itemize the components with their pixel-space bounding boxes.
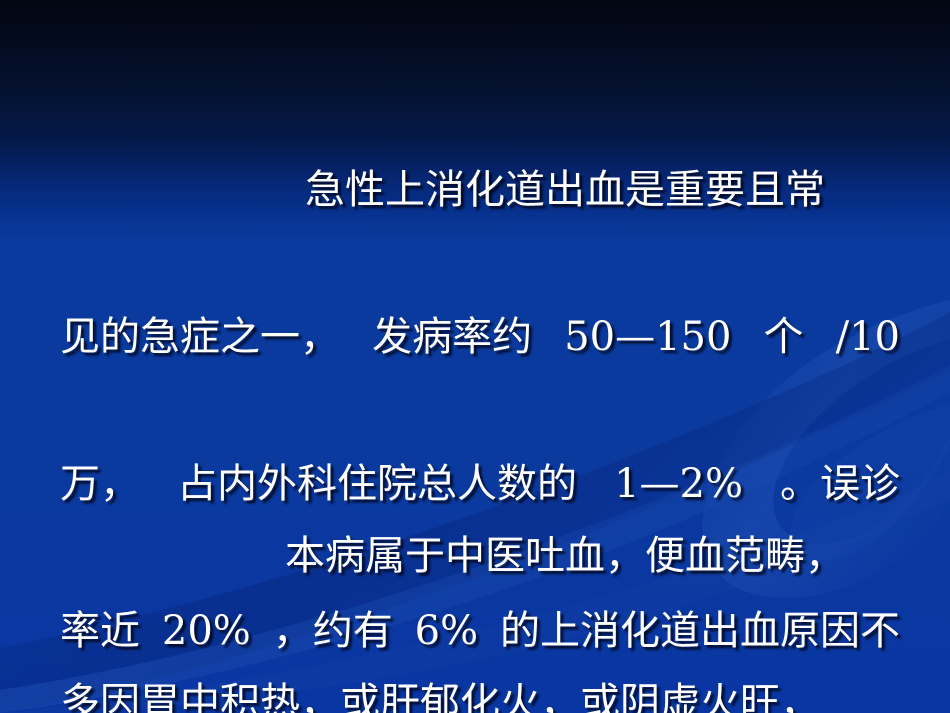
text-chunk: 发病率约 [372,313,532,362]
stat-per-100k: /10 [836,313,900,362]
paragraph-2-line-1: 本病属于中医吐血，便血范畴， [60,532,900,581]
slide-body-text: 急性上消化道出血是重要且常 见的急症之一， 发病率约 50—150 个 /10 … [0,0,950,713]
stat-incidence-range: 50—150 [564,313,731,362]
paragraph-2: 本病属于中医吐血，便血范畴， 多因胃中积热，或肝郁化火，或阴虚火旺， 损伤胃络；… [60,434,900,713]
text-chunk: 个 [764,313,804,362]
presentation-slide: 急性上消化道出血是重要且常 见的急症之一， 发病率约 50—150 个 /10 … [0,0,950,713]
text-chunk: 见的急症之一， [60,313,340,362]
paragraph-2-line-2: 多因胃中积热，或肝郁化火，或阴虚火旺， [60,679,900,713]
paragraph-1-line-1: 急性上消化道出血是重要且常 [60,166,900,215]
paragraph-1-line-2: 见的急症之一， 发病率约 50—150 个 /10 [60,313,900,362]
